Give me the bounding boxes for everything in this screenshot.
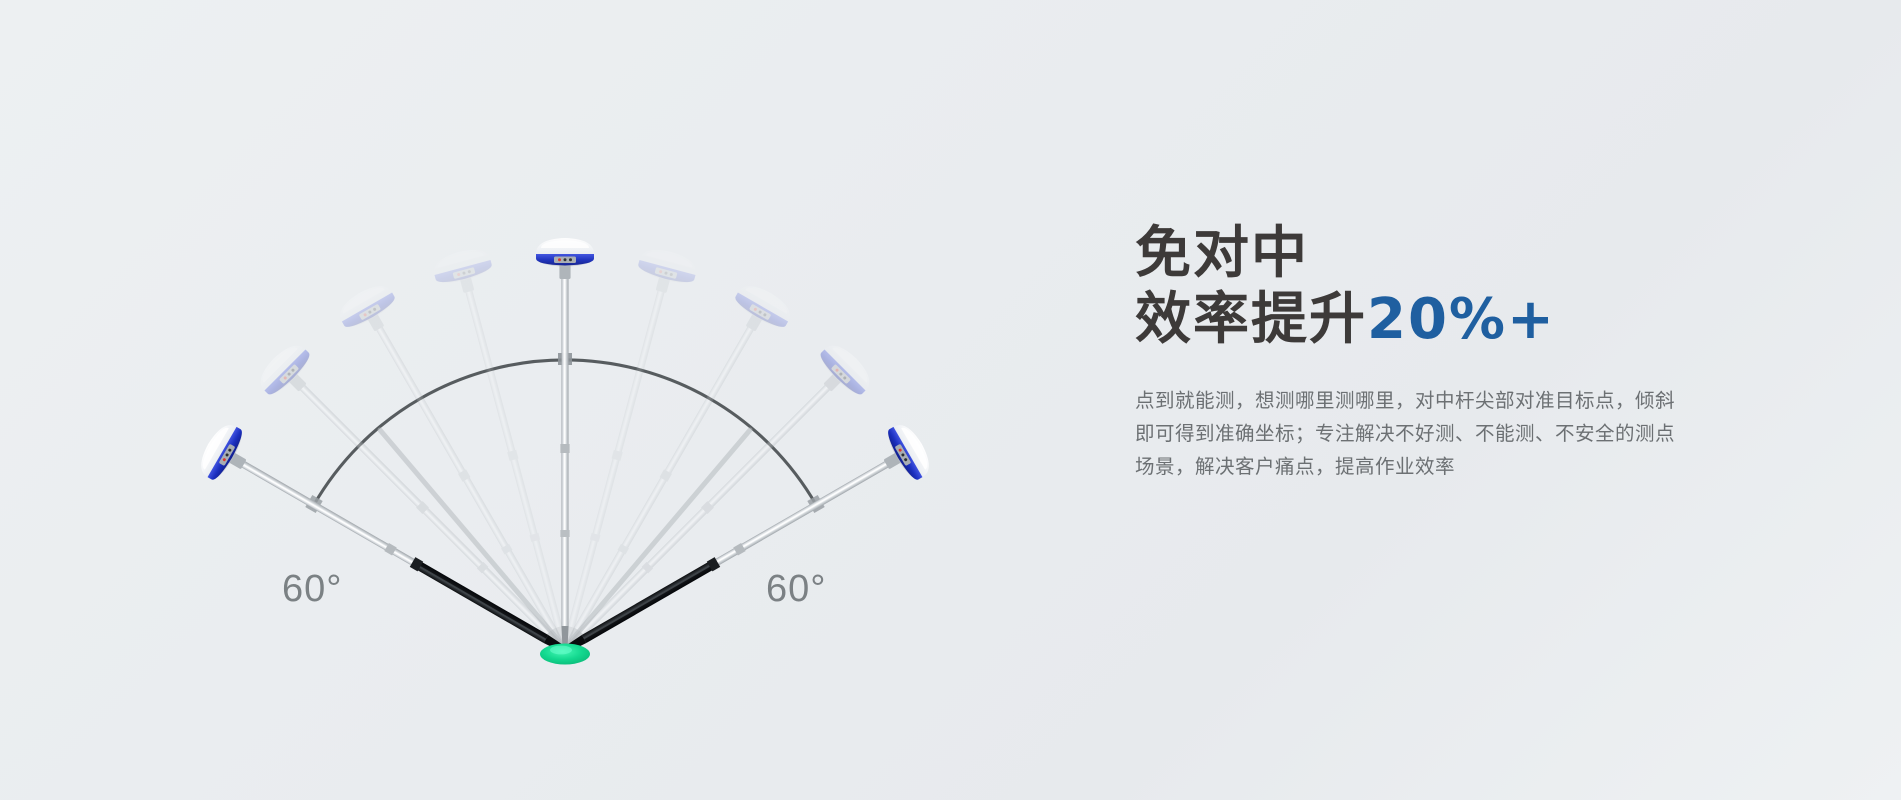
pole-left-60	[194, 419, 580, 675]
body-copy-line-1: 点到就能测，想测哪里测哪里，对中杆尖部对准目标点，倾斜	[1135, 384, 1675, 417]
headline-accent-metric: 20%+	[1367, 287, 1556, 352]
headline-line-2-main: 效率提升	[1135, 287, 1367, 352]
headline-line-1: 免对中	[1135, 222, 1835, 286]
promo-banner: 60° 60° 免对中 效率提升20%+ 点到就能测，想测哪里测哪里，对中杆尖部…	[0, 0, 1901, 800]
ground-target-marker	[540, 644, 590, 665]
body-copy: 点到就能测，想测哪里测哪里，对中杆尖部对准目标点，倾斜 即可得到准确坐标；专注解…	[1135, 384, 1675, 483]
headline-line-2: 效率提升20%+	[1135, 288, 1835, 352]
angle-label-left: 60°	[282, 568, 342, 611]
marketing-copy-panel: 免对中 效率提升20%+ 点到就能测，想测哪里测哪里，对中杆尖部对准目标点，倾斜…	[1135, 222, 1835, 483]
pole-center	[536, 238, 594, 650]
pole-fan-svg	[0, 0, 1120, 800]
body-copy-line-2: 即可得到准确坐标；专注解决不好测、不能测、不安全的测点	[1135, 417, 1675, 450]
angle-label-right: 60°	[766, 568, 826, 611]
body-copy-line-3: 场景，解决客户痛点，提高作业效率	[1135, 450, 1675, 483]
gnss-pole-tilt-illustration: 60° 60°	[0, 0, 1120, 800]
pole-right-60	[551, 419, 937, 675]
